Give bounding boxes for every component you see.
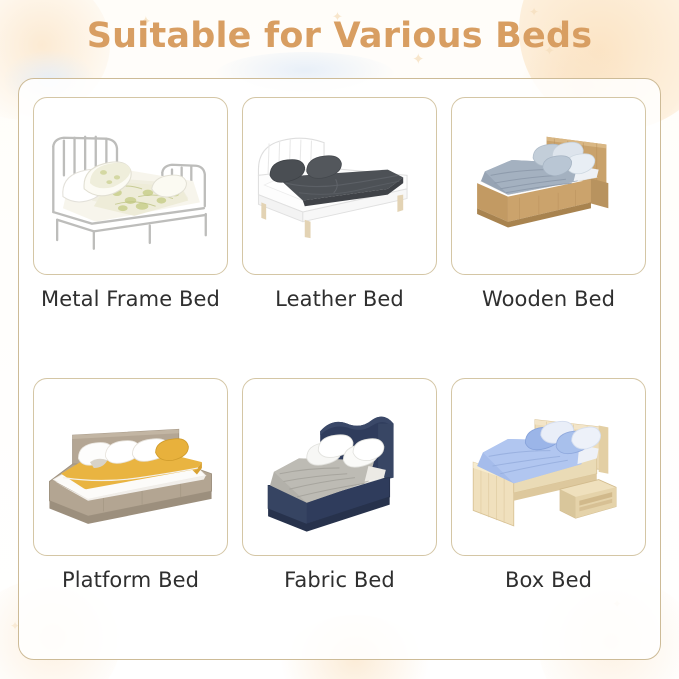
metal-frame-bed-image: [34, 98, 227, 274]
metal-frame-bed-card[interactable]: [33, 97, 228, 275]
leather-bed-card[interactable]: [242, 97, 437, 275]
bed-label: Fabric Bed: [284, 568, 395, 592]
bed-label: Wooden Bed: [482, 287, 615, 311]
bed-types-panel: Metal Frame Bed: [18, 78, 661, 660]
bed-cell-fabric: Fabric Bed: [242, 378, 437, 649]
wooden-bed-image: [452, 98, 645, 274]
bed-cell-metal-frame: Metal Frame Bed: [33, 97, 228, 368]
bed-cell-box: Box Bed: [451, 378, 646, 649]
platform-bed-image: [34, 379, 227, 555]
page-title: Suitable for Various Beds: [0, 16, 679, 56]
fabric-bed-card[interactable]: [242, 378, 437, 556]
leather-bed-image: [243, 98, 436, 274]
platform-bed-card[interactable]: [33, 378, 228, 556]
bed-label: Leather Bed: [275, 287, 404, 311]
bed-label: Metal Frame Bed: [41, 287, 220, 311]
box-bed-image: [452, 379, 645, 555]
bed-cell-wooden: Wooden Bed: [451, 97, 646, 368]
bed-label: Box Bed: [505, 568, 592, 592]
wooden-bed-card[interactable]: [451, 97, 646, 275]
fabric-bed-image: [243, 379, 436, 555]
box-bed-card[interactable]: [451, 378, 646, 556]
bed-label: Platform Bed: [62, 568, 199, 592]
bed-types-grid: Metal Frame Bed: [33, 97, 646, 649]
bed-cell-platform: Platform Bed: [33, 378, 228, 649]
bed-cell-leather: Leather Bed: [242, 97, 437, 368]
